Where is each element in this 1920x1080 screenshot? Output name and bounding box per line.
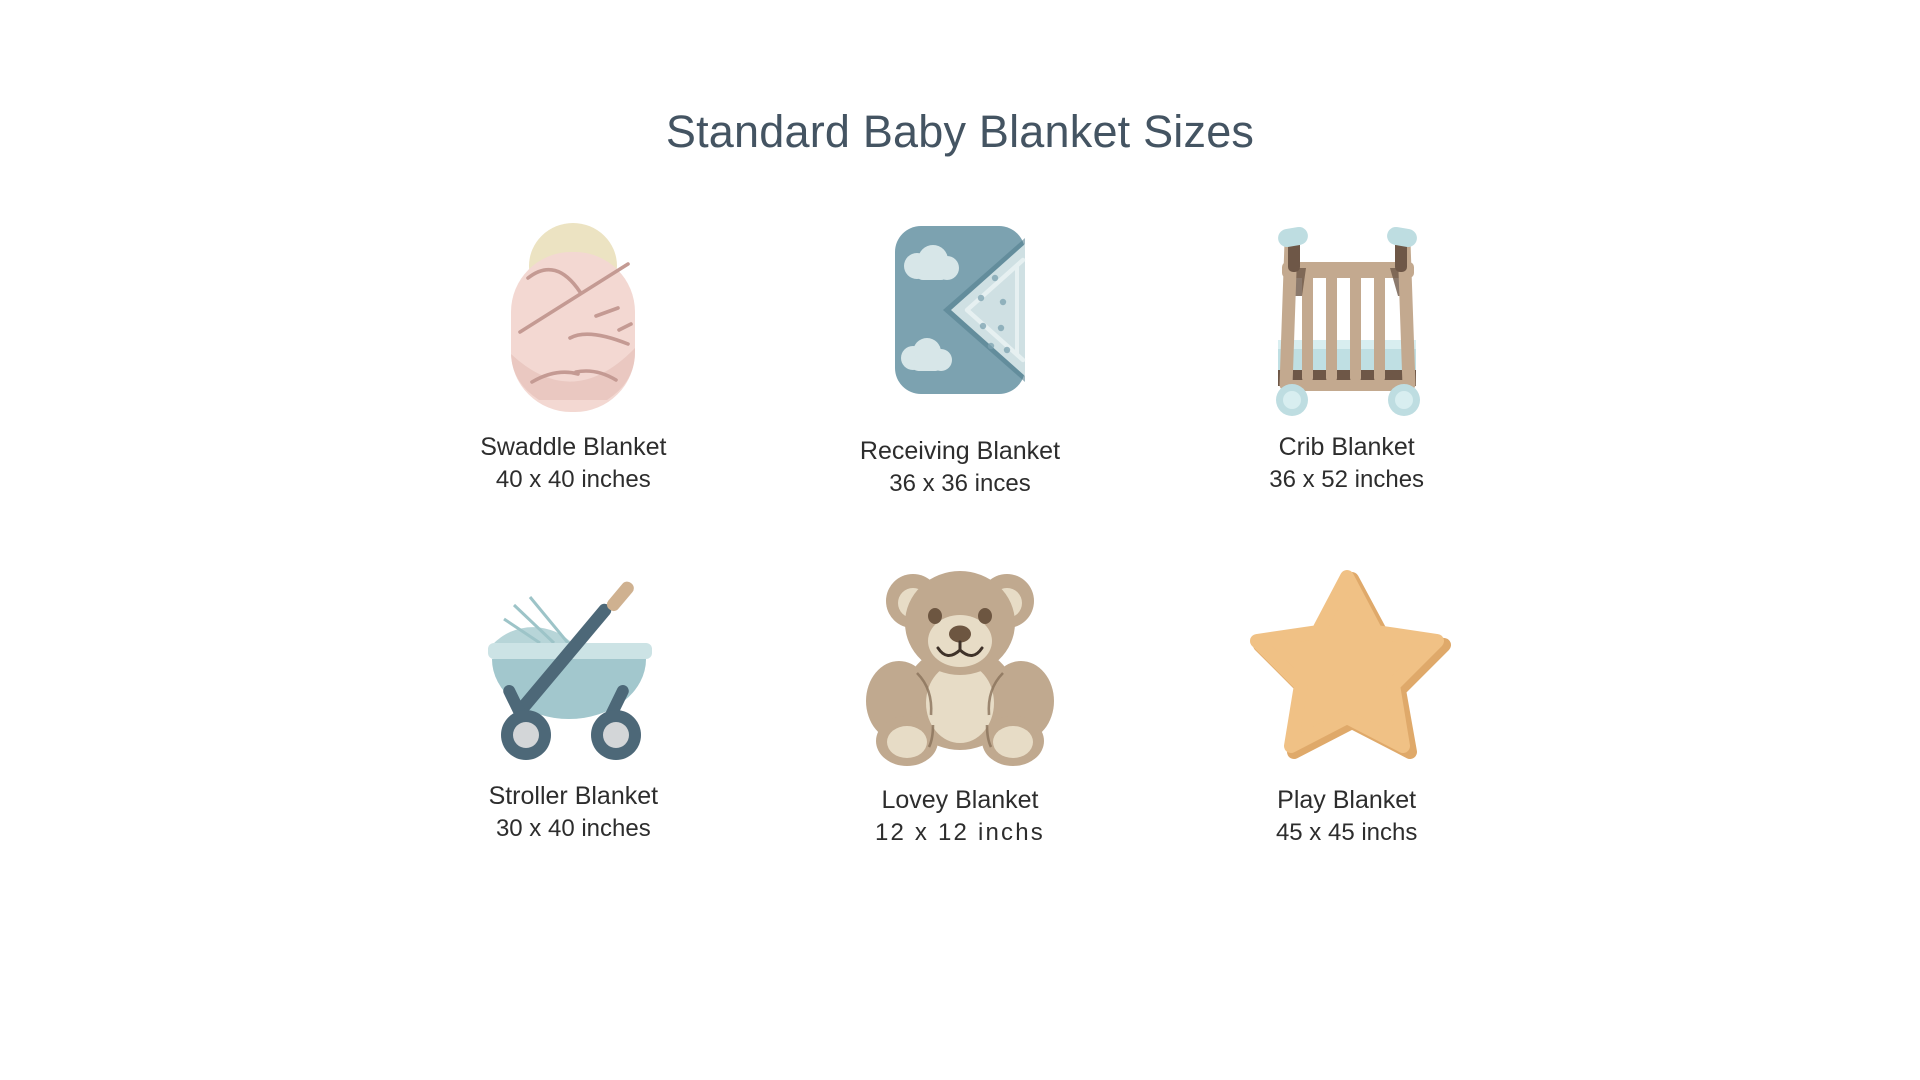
blanket-size: 36 x 52 inches xyxy=(1269,464,1424,497)
blanket-name: Stroller Blanket xyxy=(489,780,659,813)
stroller-pram-icon xyxy=(468,553,678,768)
blanket-size: 40 x 40 inches xyxy=(480,464,666,497)
blanket-card-lovey: Lovey Blanket 12 x 12 inchs xyxy=(767,553,1154,850)
blanket-name: Swaddle Blanket xyxy=(480,431,666,464)
infographic-canvas: Standard Baby Blanket Sizes xyxy=(0,0,1920,1080)
crib-icon xyxy=(1242,204,1452,419)
blanket-card-crib: Crib Blanket 36 x 52 inches xyxy=(1153,204,1540,501)
blanket-card-play: Play Blanket 45 x 45 inchs xyxy=(1153,553,1540,850)
blanket-size-grid: Swaddle Blanket 40 x 40 inches xyxy=(380,204,1540,849)
blanket-caption: Play Blanket 45 x 45 inchs xyxy=(1276,784,1417,850)
blanket-caption: Swaddle Blanket 40 x 40 inches xyxy=(480,431,666,497)
blanket-caption: Stroller Blanket 30 x 40 inches xyxy=(489,780,659,846)
blanket-caption: Crib Blanket 36 x 52 inches xyxy=(1269,431,1424,497)
blanket-caption: Receiving Blanket 36 x 36 inces xyxy=(860,435,1060,501)
blanket-card-swaddle: Swaddle Blanket 40 x 40 inches xyxy=(380,204,767,501)
blanket-name: Crib Blanket xyxy=(1269,431,1424,464)
blanket-name: Lovey Blanket xyxy=(875,784,1045,817)
page-title: Standard Baby Blanket Sizes xyxy=(666,106,1254,158)
blanket-card-stroller: Stroller Blanket 30 x 40 inches xyxy=(380,553,767,850)
teddy-bear-icon xyxy=(855,553,1065,768)
blanket-name: Play Blanket xyxy=(1276,784,1417,817)
blanket-name: Receiving Blanket xyxy=(860,435,1060,468)
folded-receiving-blanket-icon xyxy=(855,204,1065,419)
blanket-size: 30 x 40 inches xyxy=(489,813,659,846)
blanket-size: 36 x 36 inces xyxy=(860,468,1060,501)
blanket-card-receiving: Receiving Blanket 36 x 36 inces xyxy=(767,204,1154,501)
star-icon xyxy=(1242,553,1452,768)
blanket-size: 45 x 45 inchs xyxy=(1276,817,1417,850)
blanket-size: 12 x 12 inchs xyxy=(875,817,1045,850)
blanket-caption: Lovey Blanket 12 x 12 inchs xyxy=(875,784,1045,850)
swaddled-baby-icon xyxy=(468,204,678,419)
